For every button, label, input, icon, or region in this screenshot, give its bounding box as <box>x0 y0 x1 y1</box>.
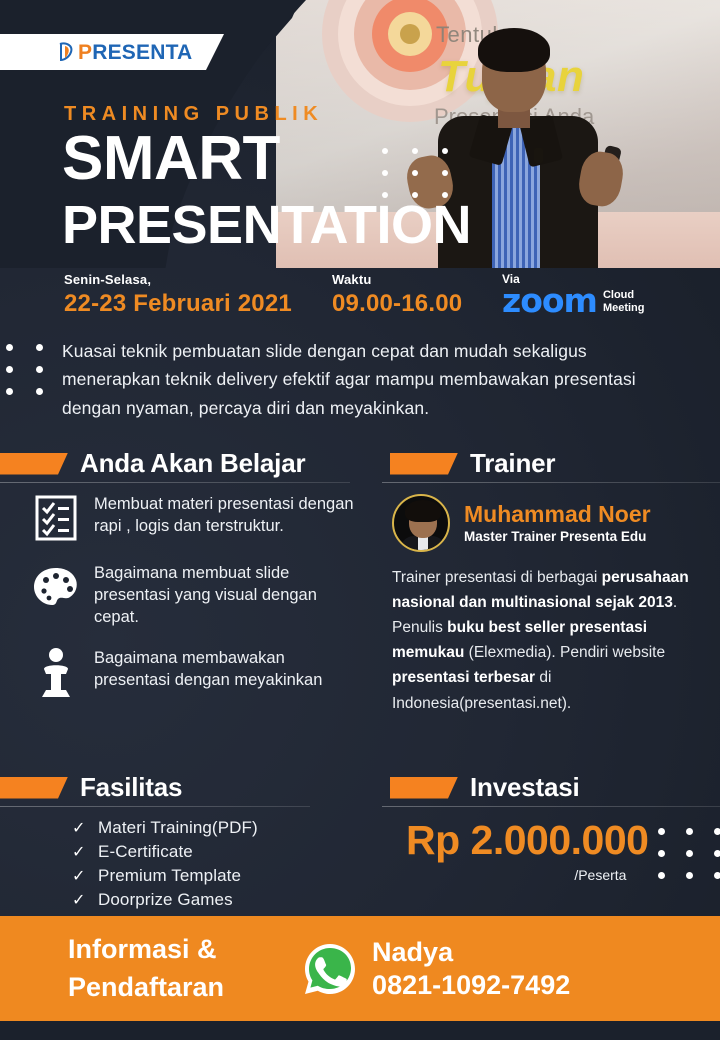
logo-initial: P <box>78 41 92 64</box>
footer-contact[interactable]: Nadya 0821-1092-7492 <box>302 936 570 1001</box>
checklist-icon <box>30 492 82 544</box>
brand-logo: PRESENTA <box>58 42 192 63</box>
trainer-divider <box>382 482 720 483</box>
list-item: Bagaimana membawakan presentasi dengan m… <box>30 646 360 698</box>
zoom-subtitle-line1: Cloud <box>603 289 634 301</box>
brand-logo-tab[interactable]: PRESENTA <box>0 34 224 70</box>
hero-kicker: TRAINING PUBLIK <box>64 103 323 126</box>
investment-section-header: Investasi <box>390 772 580 803</box>
event-description: Kuasai teknik pembuatan slide dengan cep… <box>62 337 670 422</box>
zoom-subtitle: Cloud Meeting <box>603 289 645 314</box>
poster-canvas: Tentukan Tujuan Presentasi Anda <box>0 0 720 1040</box>
investment-heading: Investasi <box>470 772 580 803</box>
brand-logo-text: PRESENTA <box>78 42 192 63</box>
facilities-section-header: Fasilitas <box>0 772 182 803</box>
decorative-dots-left <box>6 344 66 410</box>
trainer-bio-text: Trainer presentasi di berbagai <box>392 569 602 586</box>
trainer-name: Muhammad Noer <box>464 502 651 526</box>
trainer-section-header: Trainer <box>390 448 555 479</box>
facility-item-label: Materi Training(PDF) <box>98 818 258 838</box>
learn-item-text: Bagaimana membawakan presentasi dengan m… <box>94 646 360 692</box>
date-value: 22-23 Februari 2021 <box>64 290 292 318</box>
facilities-list: ✓Materi Training(PDF)✓E-Certificate✓Prem… <box>72 818 258 914</box>
presenta-mark-icon <box>58 42 75 62</box>
check-icon: ✓ <box>72 818 98 838</box>
list-item: ✓Premium Template <box>72 866 258 886</box>
list-item: ✓E-Certificate <box>72 842 258 862</box>
zoom-wordmark: zoom <box>502 286 597 316</box>
footer-cta-line2: Pendaftaran <box>68 969 224 1007</box>
time-value: 09.00-16.00 <box>332 290 462 318</box>
avatar-hair <box>405 500 441 522</box>
check-icon: ✓ <box>72 890 98 910</box>
footer-contact-text: Nadya 0821-1092-7492 <box>372 936 570 1001</box>
avatar <box>392 494 450 552</box>
trainer-card: Muhammad Noer Master Trainer Presenta Ed… <box>392 494 692 716</box>
decorative-dots-title <box>382 148 472 214</box>
check-icon: ✓ <box>72 842 98 862</box>
zoom-subtitle-line2: Meeting <box>603 302 645 314</box>
footer-cta-bar: Informasi & Pendaftaran Nadya 0821-1092-… <box>0 916 720 1021</box>
list-item: ✓Materi Training(PDF) <box>72 818 258 838</box>
zoom-logo: zoom Cloud Meeting <box>502 286 645 316</box>
learn-list: Membuat materi presentasi dengan rapi , … <box>30 492 360 715</box>
facility-item-label: Doorprize Games <box>98 890 233 910</box>
learn-item-text: Membuat materi presentasi dengan rapi , … <box>94 492 360 538</box>
trainer-header-bar <box>390 453 458 475</box>
trainer-bio-text: (Elexmedia). Pendiri website <box>464 644 665 661</box>
learn-item-text: Bagaimana membuat slide presentasi yang … <box>94 561 360 629</box>
podium-speaker-icon <box>30 646 82 698</box>
facilities-divider <box>0 806 310 807</box>
facilities-heading: Fasilitas <box>80 772 182 803</box>
facilities-header-bar <box>0 777 68 799</box>
trainer-role: Master Trainer Presenta Edu <box>464 529 651 544</box>
whatsapp-icon[interactable] <box>302 941 358 997</box>
date-label: Senin-Selasa, <box>64 272 292 287</box>
learn-divider <box>0 482 350 483</box>
event-platform-block: Via zoom Cloud Meeting <box>502 272 645 316</box>
trainer-name-block: Muhammad Noer Master Trainer Presenta Ed… <box>464 502 651 544</box>
palette-icon <box>30 561 82 613</box>
event-date-block: Senin-Selasa, 22-23 Februari 2021 <box>64 272 292 318</box>
footer-cta-text: Informasi & Pendaftaran <box>68 931 224 1007</box>
footer-cta-line1: Informasi & <box>68 931 224 969</box>
facility-item-label: E-Certificate <box>98 842 193 862</box>
trainer-bio-emphasis: presentasi terbesar <box>392 669 535 686</box>
price-unit: /Peserta <box>406 867 648 883</box>
presenter-lapel-mic <box>534 148 543 163</box>
decorative-dots-price <box>658 828 720 894</box>
price-amount: Rp 2.000.000 <box>406 820 648 861</box>
learn-section-header: Anda Akan Belajar <box>0 448 305 479</box>
trainer-identity: Muhammad Noer Master Trainer Presenta Ed… <box>392 494 692 552</box>
time-label: Waktu <box>332 272 462 287</box>
learn-header-bar <box>0 453 68 475</box>
contact-phone: 0821-1092-7492 <box>372 970 570 1000</box>
logo-word: RESENTA <box>92 41 192 64</box>
investment-price-block: Rp 2.000.000 /Peserta <box>406 820 648 883</box>
hero-title-line1: SMART <box>62 128 280 190</box>
trainer-heading: Trainer <box>470 448 555 479</box>
event-time-block: Waktu 09.00-16.00 <box>332 272 462 318</box>
list-item: ✓Doorprize Games <box>72 890 258 910</box>
avatar-shirt <box>418 536 428 552</box>
list-item: Bagaimana membuat slide presentasi yang … <box>30 561 360 629</box>
investment-header-bar <box>390 777 458 799</box>
event-info-row: Senin-Selasa, 22-23 Februari 2021 Waktu … <box>0 272 720 328</box>
trainer-bio: Trainer presentasi di berbagai perusahaa… <box>392 565 692 716</box>
list-item: Membuat materi presentasi dengan rapi , … <box>30 492 360 544</box>
presenter-hair <box>478 28 550 72</box>
learn-heading: Anda Akan Belajar <box>80 448 305 479</box>
contact-name: Nadya <box>372 937 453 967</box>
check-icon: ✓ <box>72 866 98 886</box>
bottom-strip <box>0 1021 720 1040</box>
facility-item-label: Premium Template <box>98 866 241 886</box>
investment-divider <box>382 806 720 807</box>
